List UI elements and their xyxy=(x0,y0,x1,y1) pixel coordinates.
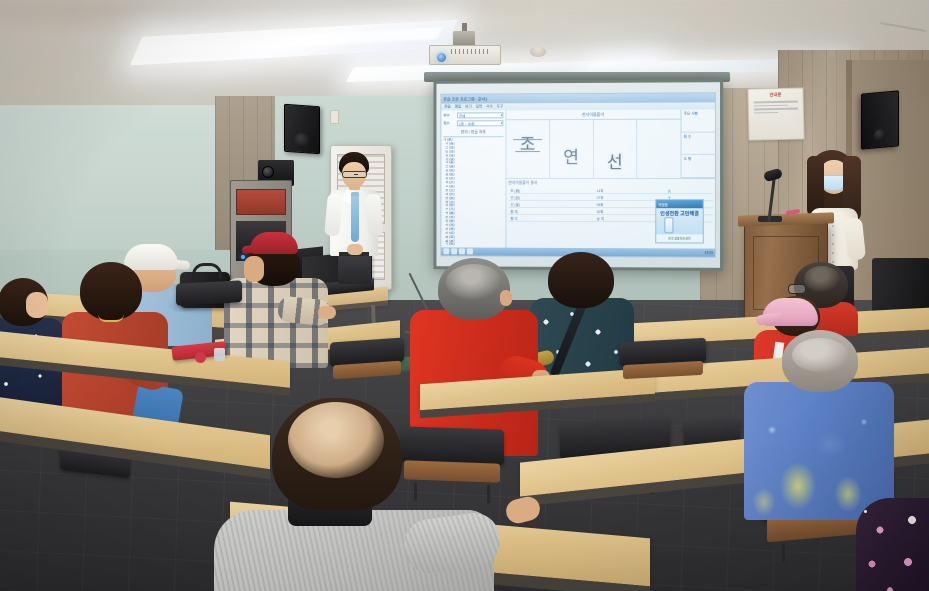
menu-item-4[interactable]: 서식 xyxy=(486,104,493,109)
field-strokes-label: 획수 xyxy=(443,121,455,126)
field-strokes[interactable]: 획수 1획 ~ 30획 xyxy=(443,120,503,126)
field-radical-label: 부수 xyxy=(443,113,455,118)
name-character-cell: 조 xyxy=(506,120,549,178)
ad-banner[interactable]: 작명원 인생전환 고민해결 한국 성명학회 공인 xyxy=(655,199,704,243)
taskbar-icon[interactable] xyxy=(467,248,473,254)
name-character-2: 선 xyxy=(607,147,623,172)
glasses-icon xyxy=(342,171,367,178)
attendee-plaid-red-cap xyxy=(226,232,336,372)
ad-banner-brand: 작명원 xyxy=(656,202,667,207)
wall-speaker-left xyxy=(284,104,320,155)
red-pencil-case-cap xyxy=(195,352,206,363)
side-panel-2: 오 행 xyxy=(682,155,715,178)
classroom-photo: 안내문 한글 조판 프로그램 - 문서1 파일 편집 보기 입력 서식 도구 xyxy=(0,0,929,591)
menu-item-5[interactable]: 도구 xyxy=(497,104,504,109)
smoke-detector-icon xyxy=(530,47,546,57)
red-cap-icon xyxy=(250,232,298,254)
character-list[interactable]: 가 (家) 각 (各) 간 (間) 감 (感) 강 (强) 개 (個) 객 (客… xyxy=(443,138,503,246)
wall-speaker-right xyxy=(861,90,899,149)
field-radical-input[interactable]: 전체 xyxy=(457,112,503,118)
app-search-panel: 부수 전체 획수 1획 ~ 30획 한자 / 한글 목록 가 (家) 각 (各)… xyxy=(441,110,506,247)
chair[interactable] xyxy=(176,280,242,319)
ad-banner-headline: 인생전환 고민해결 xyxy=(656,208,703,217)
chair[interactable] xyxy=(330,337,404,382)
menu-item-0[interactable]: 파일 xyxy=(444,105,451,110)
name-character-cell: 선 xyxy=(593,120,637,178)
name-display-header: 한자이름풀이 xyxy=(506,110,680,121)
cell: 평 가 xyxy=(508,214,594,221)
attendee-dark-pattern xyxy=(856,498,929,591)
name-character-1: 연 xyxy=(563,142,579,167)
menu-item-2[interactable]: 보기 xyxy=(465,104,472,109)
taskbar-icon[interactable] xyxy=(451,248,457,254)
ad-banner-phone-icon xyxy=(664,217,673,233)
side-panel-1: 획 수 xyxy=(682,132,715,155)
side-panel-0: 주요 사항 xyxy=(682,109,715,132)
chair[interactable] xyxy=(620,338,706,383)
taskbar-clock: 14:23 xyxy=(705,251,713,255)
water-bottle xyxy=(214,348,225,361)
ad-banner-footer: 한국 성명학회 공인 xyxy=(656,234,703,242)
taskbar-icon[interactable] xyxy=(443,248,449,254)
list-item[interactable]: 기 (氣) xyxy=(443,243,503,246)
necklace xyxy=(98,314,124,322)
app-side-panel: 주요 사항 획 수 오 행 xyxy=(681,109,715,178)
taskbar-icon[interactable] xyxy=(459,248,465,254)
app-window-title: 한글 조판 프로그램 - 문서1 xyxy=(443,96,487,102)
name-display-zone: 한자이름풀이 조 연 xyxy=(506,110,680,178)
menu-item-3[interactable]: 입력 xyxy=(476,104,483,109)
attendee-blue-floral xyxy=(744,330,894,520)
projection-screen: 한글 조판 프로그램 - 문서1 파일 편집 보기 입력 서식 도구 부수 전체 xyxy=(434,79,724,271)
pink-visor-icon xyxy=(762,298,818,326)
poster-title: 안내문 xyxy=(752,92,800,99)
name-character-cell-empty xyxy=(637,120,680,178)
name-character-cell: 연 xyxy=(550,120,594,178)
ceiling-projector xyxy=(425,31,505,65)
list-header: 한자 / 한글 목록 xyxy=(443,130,503,137)
wall-poster: 안내문 xyxy=(747,87,804,140)
wall-sensor-icon xyxy=(330,110,339,124)
attendee-gray-polo xyxy=(214,398,494,591)
field-radical[interactable]: 부수 전체 xyxy=(443,112,503,118)
field-strokes-input[interactable]: 1획 ~ 30획 xyxy=(457,120,503,126)
menu-item-1[interactable]: 편집 xyxy=(455,105,462,110)
result-table-caption: 한자이름풀이 결과 xyxy=(508,181,713,186)
